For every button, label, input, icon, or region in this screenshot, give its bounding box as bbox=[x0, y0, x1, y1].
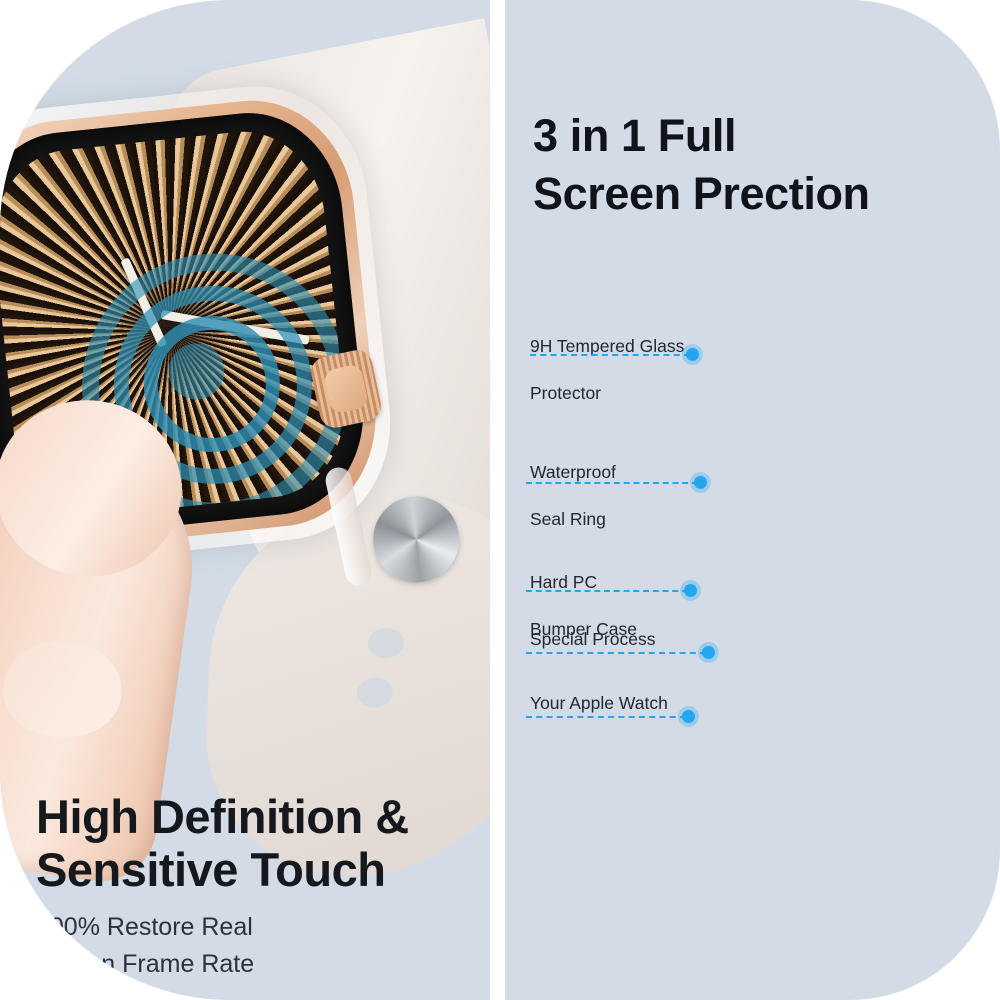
crown-cap bbox=[323, 363, 369, 414]
leader-line-special-process bbox=[526, 652, 706, 654]
callout-label: Waterproof Seal Ring bbox=[530, 438, 616, 554]
callout-label: Your Apple Watch bbox=[530, 692, 668, 715]
marker-dot-apple-watch bbox=[682, 710, 695, 723]
marker-dot-special-process bbox=[702, 646, 715, 659]
left-subtitle-line1: 100% Restore Real bbox=[36, 910, 476, 945]
leader-line-tempered-glass bbox=[530, 354, 690, 356]
right-title: 3 in 1 Full Screen Prection bbox=[533, 107, 973, 222]
callout-seal-ring: Waterproof Seal Ring bbox=[530, 438, 616, 554]
right-title-line2: Screen Prection bbox=[533, 165, 973, 223]
left-title-line1: High Definition & bbox=[36, 790, 476, 843]
callout-line2: Protector bbox=[530, 382, 684, 405]
leader-line-apple-watch bbox=[526, 716, 686, 718]
watch-with-touch-illustration bbox=[0, 73, 423, 586]
marker-dot-seal-ring bbox=[694, 476, 707, 489]
left-title-line2: Sensitive Touch bbox=[36, 843, 476, 896]
leader-line-seal-ring bbox=[526, 482, 698, 484]
callout-apple-watch: Your Apple Watch bbox=[530, 692, 668, 715]
callout-special-process: Special Process bbox=[530, 628, 655, 651]
marker-dot-bumper-case bbox=[684, 584, 697, 597]
marker-dot-tempered-glass bbox=[686, 348, 699, 361]
callout-line2: Seal Ring bbox=[530, 508, 616, 531]
right-title-line1: 3 in 1 Full bbox=[533, 107, 973, 165]
left-heading-block: High Definition & Sensitive Touch 100% R… bbox=[36, 790, 476, 981]
left-panel: High Definition & Sensitive Touch 100% R… bbox=[0, 0, 490, 1000]
callout-label: 9H Tempered Glass Protector bbox=[530, 312, 684, 428]
callout-tempered-glass: 9H Tempered Glass Protector bbox=[530, 312, 684, 428]
product-infographic: High Definition & Sensitive Touch 100% R… bbox=[0, 0, 1000, 1000]
leader-line-bumper-case bbox=[526, 590, 688, 592]
left-subtitle-line2: Screen Frame Rate bbox=[36, 947, 476, 982]
callout-label: Special Process bbox=[530, 628, 655, 651]
